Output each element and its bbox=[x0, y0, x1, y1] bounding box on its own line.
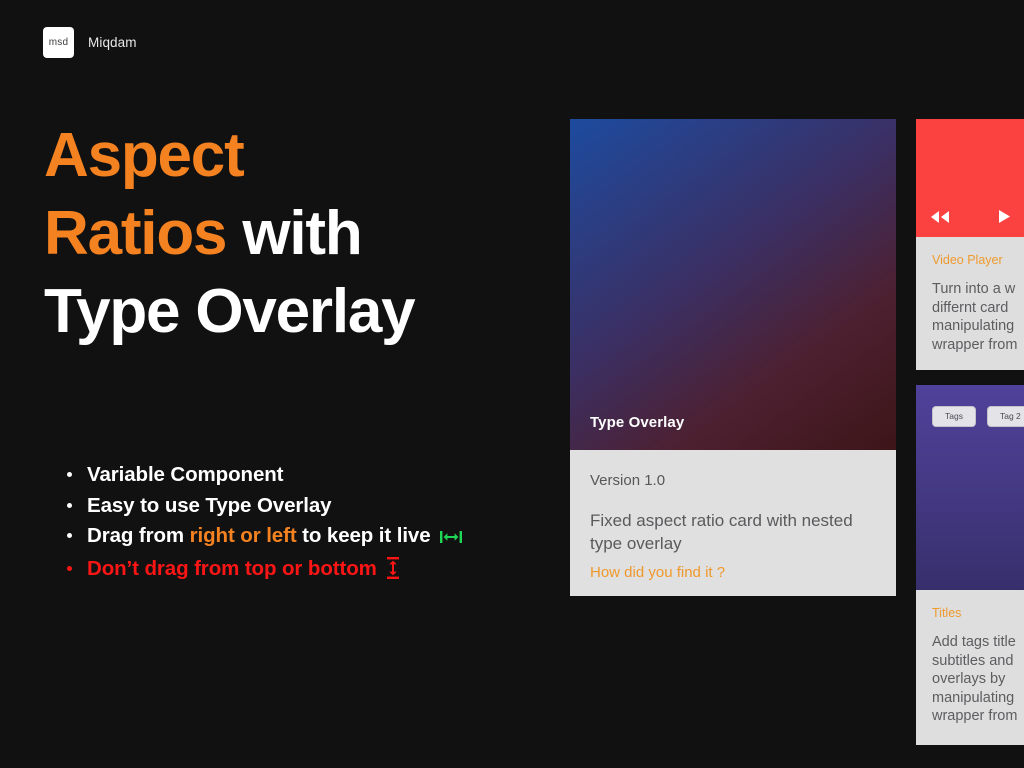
titles-card[interactable]: Tags Tag 2 Titles Add tags title subtitl… bbox=[916, 385, 1024, 745]
bullet-text-3-prefix: Drag from bbox=[87, 524, 190, 547]
video-media bbox=[916, 119, 1024, 237]
brand-logo-mark: msd bbox=[43, 27, 74, 58]
brand-name: Miqdam bbox=[88, 35, 137, 50]
card-body: Version 1.0 Fixed aspect ratio card with… bbox=[570, 450, 896, 596]
bullet-text-2: Easy to use Type Overlay bbox=[87, 494, 331, 517]
feature-list: Variable Component Easy to use Type Over… bbox=[60, 460, 520, 588]
list-item: Variable Component bbox=[60, 460, 520, 490]
tag-chip-group: Tags Tag 2 bbox=[916, 406, 1024, 427]
slide-canvas: msd Miqdam Aspect Ratios with Type Overl… bbox=[0, 0, 1024, 768]
video-card-kicker: Video Player bbox=[932, 253, 1024, 267]
titles-media: Tags Tag 2 bbox=[916, 385, 1024, 590]
tag-chip[interactable]: Tag 2 bbox=[987, 406, 1024, 427]
vertical-resize-icon bbox=[386, 557, 400, 588]
bullet-text-3-suffix: to keep it live bbox=[297, 524, 431, 547]
play-icon[interactable] bbox=[998, 209, 1011, 229]
card-media-gradient: Type Overlay bbox=[570, 119, 896, 450]
titles-card-body: Titles Add tags title subtitles and over… bbox=[916, 590, 1024, 726]
card-version: Version 1.0 bbox=[590, 472, 876, 489]
titles-card-text: Add tags title subtitles and overlays by… bbox=[932, 633, 1024, 726]
brand-lockup: msd Miqdam bbox=[43, 27, 137, 58]
bullet-text-1: Variable Component bbox=[87, 463, 283, 486]
video-controls bbox=[916, 209, 1024, 229]
video-card-text: Turn into a w differnt card manipulating… bbox=[932, 280, 1024, 354]
bullet-text-4: Don’t drag from top or bottom bbox=[87, 557, 377, 580]
type-overlay-title: Type Overlay bbox=[590, 414, 684, 431]
card-feedback-link[interactable]: How did you find it ? bbox=[590, 564, 876, 581]
video-card-body: Video Player Turn into a w differnt card… bbox=[916, 237, 1024, 354]
bullet-text-3-accent: right or left bbox=[190, 524, 297, 547]
headline-line2-rest: with bbox=[226, 199, 361, 268]
card-description: Fixed aspect ratio card with nested type… bbox=[590, 510, 876, 555]
headline-line2-accent: Ratios bbox=[44, 199, 226, 268]
horizontal-resize-icon bbox=[440, 523, 462, 553]
rewind-icon[interactable] bbox=[930, 210, 950, 229]
list-item: Easy to use Type Overlay bbox=[60, 491, 520, 521]
headline-line3: Type Overlay bbox=[44, 277, 414, 346]
page-title: Aspect Ratios with Type Overlay bbox=[44, 117, 564, 351]
tag-chip[interactable]: Tags bbox=[932, 406, 976, 427]
list-item: Don’t drag from top or bottom bbox=[60, 554, 520, 588]
titles-card-kicker: Titles bbox=[932, 606, 1024, 620]
headline-line1: Aspect bbox=[44, 121, 244, 190]
aspect-ratio-card[interactable]: Type Overlay Version 1.0 Fixed aspect ra… bbox=[570, 119, 896, 596]
list-item: Drag from right or left to keep it live bbox=[60, 521, 520, 553]
video-player-card[interactable]: Video Player Turn into a w differnt card… bbox=[916, 119, 1024, 370]
